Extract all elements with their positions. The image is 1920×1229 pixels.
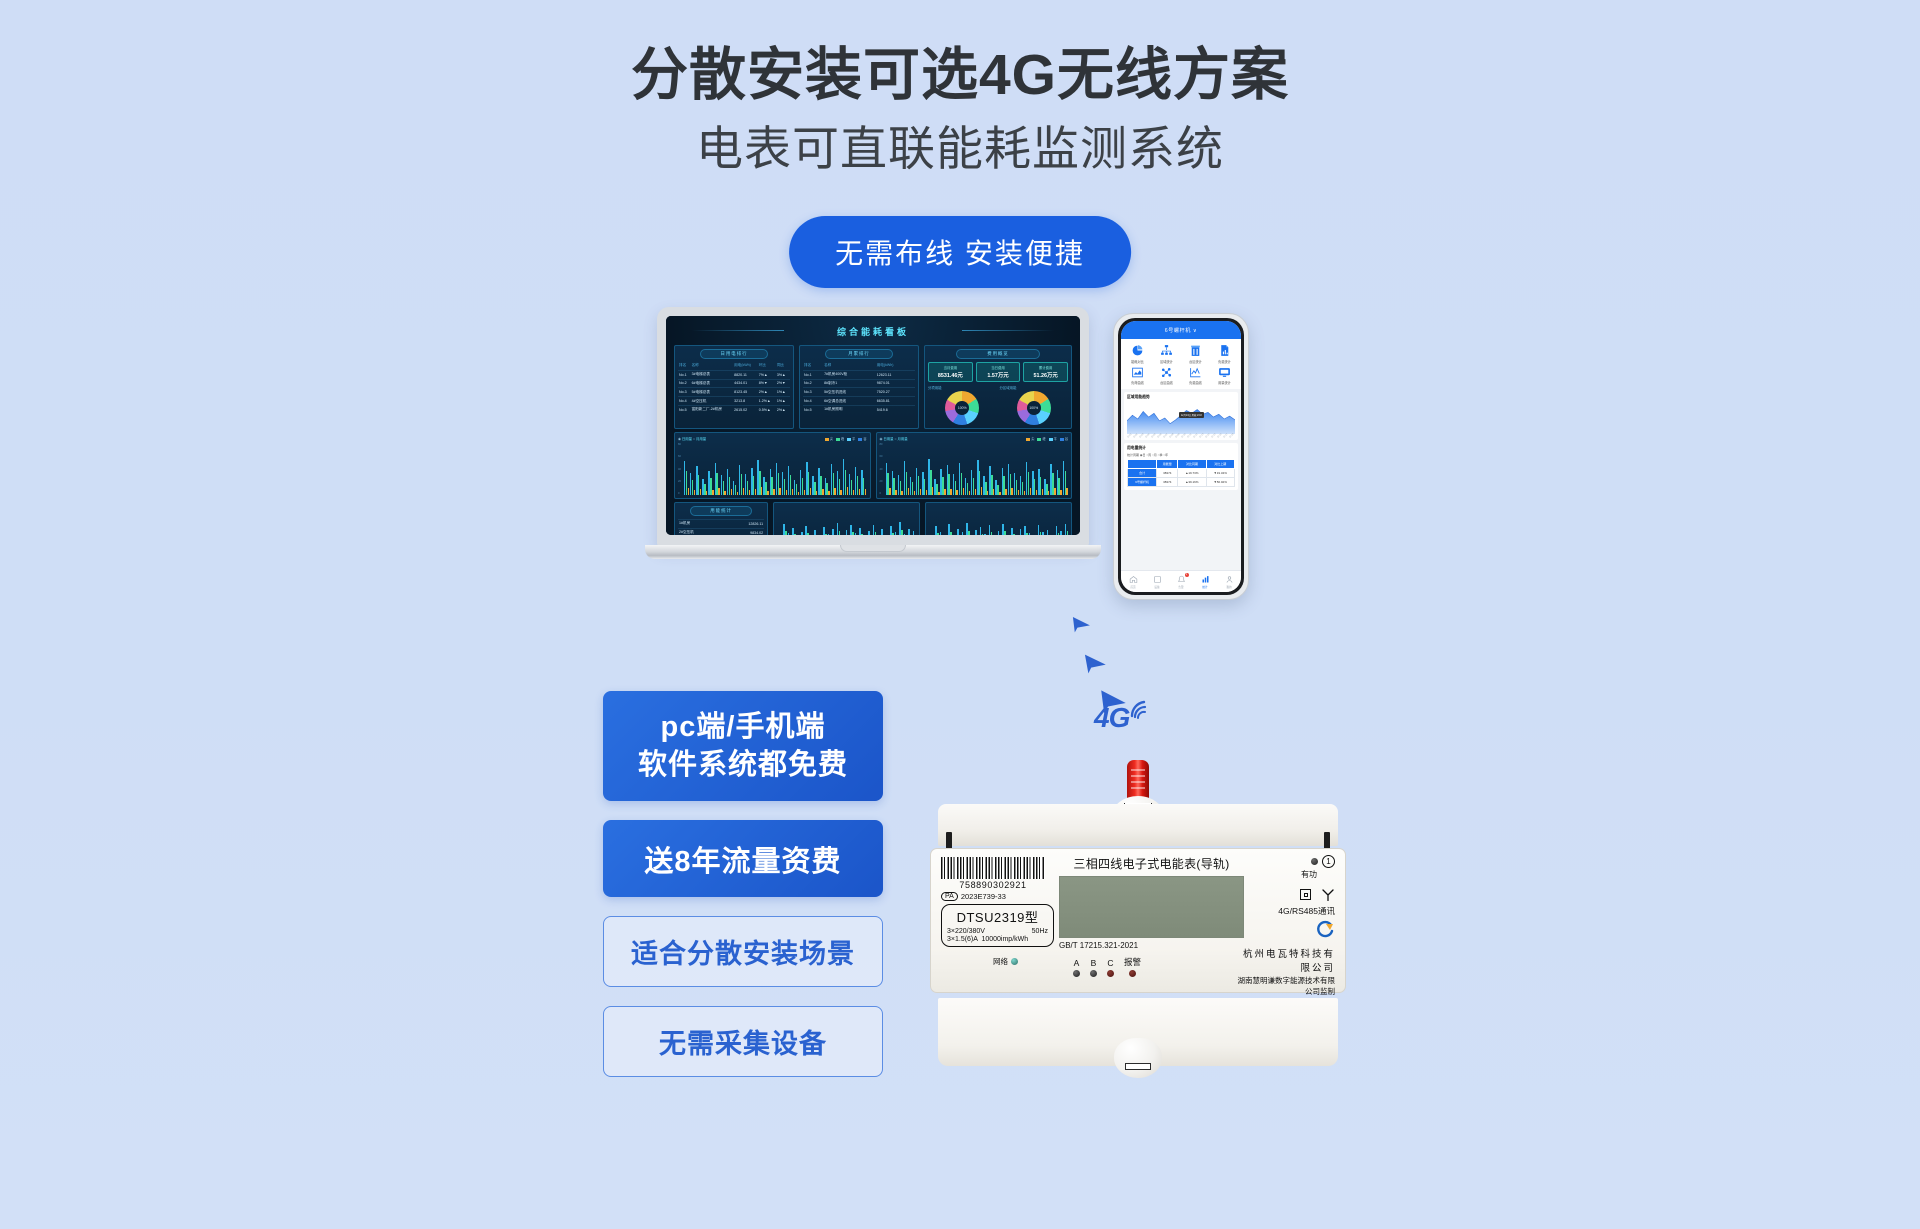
meter-constant: 10000imp/kWh bbox=[981, 936, 1028, 943]
phase-led-item: A bbox=[1073, 958, 1080, 977]
phone-table-card-title: 用电量统计 bbox=[1127, 446, 1235, 451]
panel-daily-ranking-head: 日用电排行 bbox=[700, 349, 767, 359]
bar-chart: 806040200 bbox=[880, 443, 1069, 495]
star-connection-icon bbox=[1321, 888, 1335, 901]
meter-model: DTSU2319型 bbox=[947, 907, 1048, 926]
phone-menu-label: 负载曲线 bbox=[1182, 380, 1209, 385]
area-chart: 12月13日 用能 23.8 bbox=[1127, 402, 1235, 434]
phase-led-icon bbox=[1073, 970, 1080, 977]
period-radio[interactable]: ○月 bbox=[1152, 453, 1157, 457]
phone-area-card-title: 区域用能趋势 bbox=[1127, 395, 1235, 400]
meter-bottom-terminal-cover bbox=[1114, 1038, 1162, 1078]
legend-item: 峰 bbox=[1037, 436, 1045, 441]
phone-usage-table: 用能量对比同期对比上期 合计38374 ▲19.73% ▼19.34%6号螺杆机… bbox=[1127, 459, 1235, 487]
phone-menu-label: 负荷曲线 bbox=[1124, 380, 1151, 385]
meter-lcd-display bbox=[1059, 876, 1244, 938]
meter-title: 三相四线电子式电能表(导轨) bbox=[1059, 855, 1244, 872]
panel-cost-overview-head: 费用概览 bbox=[956, 349, 1040, 359]
usage-stats-table: 1#机房12826.112#空压机9834.023#制冷站7320.174#照明… bbox=[678, 519, 764, 535]
feature-badge-line1: pc端/手机端 bbox=[661, 708, 826, 746]
dashboard-title: 综合能耗看板 bbox=[674, 322, 1072, 342]
feature-badge-line1: 无需采集设备 bbox=[659, 1022, 827, 1061]
chart-tooltip: 12月13日 用能 23.8 bbox=[1179, 412, 1204, 418]
feature-badge-line2: 软件系统都免费 bbox=[638, 746, 848, 784]
energy-dashboard: 综合能耗看板 日用电排行 排名名称用电(kWh)环比同比 No.13#电梯总表8… bbox=[666, 316, 1080, 535]
phone-header[interactable]: 6号螺杆机 ∨ bbox=[1121, 321, 1241, 339]
donut-chart: 100% bbox=[945, 391, 979, 425]
phone-mockup: 6号螺杆机 ∨ 能耗对比 区域统计 台区统计 负载统计 负荷曲线 台区曲线 负载… bbox=[1113, 313, 1249, 600]
laptop-notch bbox=[840, 545, 906, 552]
meter-middle-block: 三相四线电子式电能表(导轨) GB/T 17215.321-2021 A B C… bbox=[1059, 855, 1244, 977]
table-row: 6号螺杆机38374 ▲39.16% ▼56.02% bbox=[1128, 478, 1235, 487]
daily-ranking-table: 排名名称用电(kWh)环比同比 No.13#电梯总表8820.11 7%▲ 3%… bbox=[678, 362, 790, 414]
circle-index-badge: 1 bbox=[1322, 855, 1335, 868]
meter-right-block: 1 有功 4G/RS485通讯 bbox=[1235, 855, 1335, 997]
phone-menu-grid: 能耗对比 区域统计 台区统计 负载统计 负荷曲线 台区曲线 负载曲线 用量统计 bbox=[1121, 339, 1241, 389]
table-header: 对比同期 bbox=[1178, 460, 1206, 469]
table-header: 名称 bbox=[691, 362, 734, 370]
donut-center-label: 100% bbox=[1017, 391, 1051, 425]
monthly-ranking-table: 排名名称用电(kWh) No.17#机房400V柜12623.11No.28#制… bbox=[803, 362, 915, 414]
kpi-card: 当月费用8531.46元 bbox=[928, 362, 973, 382]
phone-menu-item[interactable]: 区域统计 bbox=[1153, 344, 1180, 364]
meter-faceplate: 758890302921 PA 2023E739-33 DTSU2319型 3×… bbox=[930, 848, 1346, 993]
table-row: No.5富阳新二厂-2#机房2615.02 0.5%▲ 2%▲ bbox=[678, 405, 790, 413]
barcode-number: 758890302921 bbox=[941, 880, 1045, 890]
table-row: No.13#电梯总表8820.11 7%▲ 3%▲ bbox=[678, 370, 790, 379]
legend-item: 尖 bbox=[1026, 436, 1034, 441]
donut-title: 分区域用能 bbox=[1000, 385, 1069, 390]
phone-area-card: 区域用能趋势 12月13日 用能 23.8 12-0112-0212-0312-… bbox=[1124, 392, 1238, 440]
meter-standard: GB/T 17215.321-2021 bbox=[1059, 941, 1244, 950]
kpi-card: 累计费用51.26万元 bbox=[1023, 362, 1068, 382]
table-row: No.35#电梯总表8123.45 2%▲ 1%▲ bbox=[678, 388, 790, 397]
company-sub: 湖南慧明谦数字能源技术有限公司监制 bbox=[1235, 975, 1335, 997]
wifi-waves-icon bbox=[1130, 696, 1158, 722]
table-row: 1#机房12826.11 bbox=[678, 520, 764, 529]
nav-badge: 9 bbox=[1185, 573, 1189, 577]
chart-radio-group[interactable]: ◉ 日用量 ○ 月用量 bbox=[880, 436, 908, 441]
panel-monthly-ranking: 月累排行 排名名称用电(kWh) No.17#机房400V柜12623.11No… bbox=[799, 345, 919, 429]
legend-item: 谷 bbox=[858, 436, 866, 441]
phone-menu-item[interactable]: 台区统计 bbox=[1182, 344, 1209, 364]
panel-monthly-ranking-head: 月累排行 bbox=[825, 349, 892, 359]
phone-header-title: 6号螺杆机 bbox=[1165, 328, 1191, 334]
phone-nav-label: 我的 bbox=[1217, 585, 1241, 589]
table-row: 合计38374 ▲19.73% ▼19.34% bbox=[1128, 469, 1235, 478]
pie-chart-icon bbox=[1131, 344, 1144, 357]
bar-chart-panel: ◉ 日用量 ○ 月用量 尖峰平谷 806040200 bbox=[876, 432, 1073, 499]
phase-led-item: B bbox=[1090, 958, 1097, 977]
table-header: 用能量 bbox=[1157, 460, 1178, 469]
laptop-mockup: 综合能耗看板 日用电排行 排名名称用电(kWh)环比同比 No.13#电梯总表8… bbox=[645, 307, 1101, 572]
feature-badge-line1: 送8年流量资费 bbox=[644, 838, 841, 880]
stats-icon bbox=[1201, 575, 1210, 585]
donut-chart: 100% bbox=[1017, 391, 1051, 425]
bar-chart: 806040200 bbox=[678, 443, 867, 495]
network-led-row: 网络 bbox=[993, 956, 1056, 967]
phone-nav-label: 设备 bbox=[1145, 585, 1169, 589]
company-block: 杭州电瓦特科技有限公司 湖南慧明谦数字能源技术有限公司监制 bbox=[1235, 946, 1335, 997]
phone-menu-item[interactable]: 负载曲线 bbox=[1182, 366, 1209, 386]
phone-screen: 6号螺杆机 ∨ 能耗对比 区域统计 台区统计 负载统计 负荷曲线 台区曲线 负载… bbox=[1121, 321, 1241, 592]
monitor-icon bbox=[1218, 366, 1231, 379]
bar-chart-panel: ◉ 日用量 ○ 月用量 尖峰平谷 806040200 bbox=[674, 432, 871, 499]
network-label: 网络 bbox=[993, 956, 1008, 967]
chart-legend: 尖峰平谷 bbox=[825, 436, 867, 441]
table-row: No.44#空压机3213.8 1.2%▲ 1%▲ bbox=[678, 397, 790, 406]
chart-row: ◉ 日用量 ○ 月用量 尖峰平谷 806040200 ◉ 日用量 ○ 月用量 尖… bbox=[674, 432, 1072, 499]
home-icon bbox=[1129, 575, 1138, 585]
panel-cost-overview: 费用概览 当月费用8531.46元当日费用1.57万元累计费用51.26万元 分… bbox=[924, 345, 1072, 429]
donut-chart-wrap: 分项用能 100% bbox=[928, 385, 997, 425]
meter-top-shell bbox=[938, 804, 1338, 846]
donut-title: 分项用能 bbox=[928, 385, 997, 390]
table-header: 同比 bbox=[776, 362, 790, 370]
table-row: No.17#机房400V柜12623.11 bbox=[803, 370, 915, 379]
user-icon bbox=[1225, 575, 1234, 585]
panel-daily-ranking: 日用电排行 排名名称用电(kWh)环比同比 No.13#电梯总表8820.11 … bbox=[674, 345, 794, 429]
legend-item: 尖 bbox=[825, 436, 833, 441]
donut-chart-wrap: 分区域用能 100% bbox=[1000, 385, 1069, 425]
laptop-screen: 综合能耗看板 日用电排行 排名名称用电(kWh)环比同比 No.13#电梯总表8… bbox=[666, 316, 1080, 535]
phone-bezel: 6号螺杆机 ∨ 能耗对比 区域统计 台区统计 负载统计 负荷曲线 台区曲线 负载… bbox=[1118, 318, 1244, 595]
table-header: 排名 bbox=[803, 362, 823, 370]
page-subtitle: 电表可直联能耗监测系统 bbox=[0, 122, 1920, 176]
company-name: 杭州电瓦特科技有限公司 bbox=[1235, 946, 1335, 974]
kpi-card: 当日费用1.57万元 bbox=[976, 362, 1021, 382]
table-header bbox=[1128, 460, 1157, 469]
phase-led-row: A B C 报警 bbox=[1073, 956, 1244, 977]
meter-model-box: DTSU2319型 3×220/380V 50Hz 3×1.5(6)A 1000… bbox=[941, 904, 1054, 947]
phone-nav-item[interactable]: 统计 bbox=[1193, 575, 1217, 589]
laptop-lid: 综合能耗看板 日用电排行 排名名称用电(kWh)环比同比 No.13#电梯总表8… bbox=[657, 307, 1089, 547]
phase-led-icon bbox=[1107, 970, 1114, 977]
phone-menu-label: 台区统计 bbox=[1182, 359, 1209, 364]
phone-nav-label: 统计 bbox=[1193, 585, 1217, 589]
donut-row: 分项用能 100% 分区域用能 100% bbox=[928, 385, 1068, 425]
donut-center-label: 100% bbox=[945, 391, 979, 425]
phone-menu-item[interactable]: 台区曲线 bbox=[1153, 366, 1180, 386]
hero-headline-block: 分散安装可选4G无线方案 电表可直联能耗监测系统 bbox=[0, 44, 1920, 176]
class-ii-square-icon bbox=[1300, 889, 1311, 900]
network-led-icon bbox=[1011, 958, 1018, 965]
signal-indicator: 4G bbox=[1064, 600, 1204, 750]
sitemap-icon bbox=[1160, 344, 1173, 357]
phone-menu-label: 区域统计 bbox=[1153, 359, 1180, 364]
phase-led-item: 报警 bbox=[1124, 956, 1141, 977]
line-chart-icon bbox=[1189, 366, 1202, 379]
table-header: 环比 bbox=[758, 362, 776, 370]
panel-usage-stats: 用能统计 1#机房12826.112#空压机9834.023#制冷站7320.1… bbox=[674, 502, 768, 535]
table-row: No.26#电梯总表4434.01 8%▼ 2%▼ bbox=[678, 379, 790, 388]
phase-led-icon bbox=[1090, 970, 1097, 977]
meter-current: 3×1.5(6)A bbox=[947, 936, 978, 943]
scatter-icon bbox=[1160, 366, 1173, 379]
table-header: 名称 bbox=[823, 362, 876, 370]
phone-menu-label: 台区曲线 bbox=[1153, 380, 1180, 385]
table-row: No.51#机房照明5419.6 bbox=[803, 405, 915, 413]
period-radio[interactable]: ◉日 bbox=[1140, 453, 1146, 457]
feature-badge-list: pc端/手机端 软件系统都免费 送8年流量资费 适合分散安装场景 无需采集设备 bbox=[603, 691, 883, 1096]
table-header: 排名 bbox=[678, 362, 691, 370]
meter-voltage: 3×220/380V bbox=[947, 928, 985, 935]
phone-nav-item[interactable]: 我的 bbox=[1217, 575, 1241, 589]
building-icon bbox=[1189, 344, 1202, 357]
barcode-icon bbox=[941, 857, 1045, 879]
phone-table-card: 用电量统计 统计周期 ◉日 ○周 ○月 ○季 ○年 用能量对比同期对比上期 合计… bbox=[1124, 443, 1238, 490]
phone-menu-item[interactable]: 负载统计 bbox=[1211, 344, 1238, 364]
phone-nav-label: 首页 bbox=[1121, 585, 1145, 589]
brand-logo-icon bbox=[1315, 920, 1335, 940]
table-header: 用电(kWh) bbox=[876, 362, 915, 370]
table-row: 2#空压机9834.02 bbox=[678, 528, 764, 535]
panel-usage-stats-head: 用能统计 bbox=[690, 506, 752, 516]
table-header: 对比上期 bbox=[1206, 460, 1234, 469]
phone-menu-item[interactable]: 能耗对比 bbox=[1124, 344, 1151, 364]
hero-pill-badge[interactable]: 无需布线 安装便捷 bbox=[789, 216, 1131, 288]
phone-nav-label: 告警 bbox=[1169, 585, 1193, 589]
kpi-row: 当月费用8531.46元当日费用1.57万元累计费用51.26万元 bbox=[928, 362, 1068, 382]
chart-radio-group[interactable]: ◉ 日用量 ○ 月用量 bbox=[678, 436, 706, 441]
phone-menu-label: 能耗对比 bbox=[1124, 359, 1151, 364]
file-chart-icon bbox=[1218, 344, 1231, 357]
alert-icon: 9 bbox=[1177, 575, 1186, 585]
legend-item: 谷 bbox=[1060, 436, 1068, 441]
feature-badge[interactable]: 适合分散安装场景 bbox=[603, 916, 883, 987]
phase-led-item: C bbox=[1107, 958, 1114, 977]
legend-item: 峰 bbox=[836, 436, 844, 441]
area-chart-icon bbox=[1131, 366, 1144, 379]
pa-badge: PA bbox=[941, 892, 958, 901]
pa-code: 2023E739-33 bbox=[961, 892, 1006, 901]
pa-line: PA 2023E739-33 bbox=[941, 892, 1056, 901]
meter-frequency: 50Hz bbox=[1032, 928, 1048, 935]
meter-left-block: 758890302921 PA 2023E739-33 DTSU2319型 3×… bbox=[941, 857, 1056, 967]
phone-menu-label: 负载统计 bbox=[1211, 359, 1238, 364]
period-radio-group[interactable]: 统计周期 ◉日 ○周 ○月 ○季 ○年 bbox=[1127, 453, 1235, 457]
area-chart-xlabels: 12-0112-0212-0312-0412-0512-0612-0712-08… bbox=[1127, 435, 1235, 437]
phase-led-icon bbox=[1129, 970, 1136, 977]
legend-item: 平 bbox=[1049, 436, 1057, 441]
feature-badge[interactable]: 无需采集设备 bbox=[603, 1006, 883, 1077]
page-title: 分散安装可选4G无线方案 bbox=[0, 44, 1920, 108]
period-radio[interactable]: ○周 bbox=[1146, 453, 1151, 457]
feature-badge[interactable]: pc端/手机端 软件系统都免费 bbox=[603, 691, 883, 801]
period-radio-label: 统计周期 bbox=[1127, 453, 1139, 457]
panel-bottom-chart-1 bbox=[773, 502, 920, 535]
energy-meter-device: 758890302921 PA 2023E739-33 DTSU2319型 3×… bbox=[918, 760, 1358, 1105]
signal-arrows bbox=[1064, 600, 1204, 750]
comm-label: 4G/RS485通讯 bbox=[1235, 905, 1335, 917]
phone-menu-item[interactable]: 负荷曲线 bbox=[1124, 366, 1151, 386]
phone-menu-item[interactable]: 用量统计 bbox=[1211, 366, 1238, 386]
4g-label: 4G bbox=[1094, 702, 1129, 734]
product-promo-page: 分散安装可选4G无线方案 电表可直联能耗监测系统 无需布线 安装便捷 综合能耗看… bbox=[0, 0, 1920, 1229]
feature-badge[interactable]: 送8年流量资费 bbox=[603, 820, 883, 897]
chart-legend: 尖峰平谷 bbox=[1026, 436, 1068, 441]
panel-bottom-chart-2 bbox=[925, 502, 1072, 535]
active-energy-led-icon bbox=[1311, 858, 1318, 865]
table-row: No.28#制冷19874.01 bbox=[803, 379, 915, 388]
table-header: 用电(kWh) bbox=[733, 362, 758, 370]
table-row: No.46#空调总进线6635.81 bbox=[803, 397, 915, 406]
table-row: No.35#空压机进线7520.27 bbox=[803, 388, 915, 397]
legend-item: 平 bbox=[847, 436, 855, 441]
feature-badge-line1: 适合分散安装场景 bbox=[631, 932, 855, 971]
phone-menu-label: 用量统计 bbox=[1211, 380, 1238, 385]
active-energy-label: 有功 bbox=[1235, 869, 1317, 880]
period-radio[interactable]: ○年 bbox=[1163, 453, 1168, 457]
period-radio[interactable]: ○季 bbox=[1158, 453, 1163, 457]
phone-nav-item[interactable]: 9 告警 bbox=[1169, 575, 1193, 589]
phone-nav-item[interactable]: 首页 bbox=[1121, 575, 1145, 589]
device-icon bbox=[1153, 575, 1162, 585]
chevron-down-icon[interactable]: ∨ bbox=[1193, 328, 1197, 334]
phone-bottom-nav: 首页 设备 9 告警 统计 我的 bbox=[1121, 570, 1241, 592]
phone-nav-item[interactable]: 设备 bbox=[1145, 575, 1169, 589]
